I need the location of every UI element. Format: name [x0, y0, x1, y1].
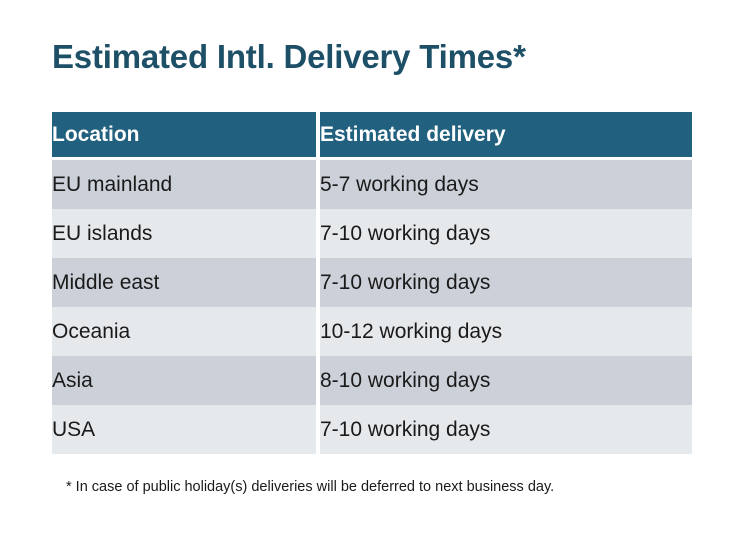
cell-location: Middle east: [52, 258, 316, 307]
table-row: EU mainland 5-7 working days: [52, 160, 692, 209]
cell-location: USA: [52, 405, 316, 454]
cell-estimate: 7-10 working days: [320, 209, 692, 258]
cell-estimate: 7-10 working days: [320, 258, 692, 307]
footnote-text: * In case of public holiday(s) deliverie…: [66, 479, 554, 495]
table-header-row: Location Estimated delivery: [52, 112, 692, 157]
table-row: Oceania 10-12 working days: [52, 307, 692, 356]
table-row: EU islands 7-10 working days: [52, 209, 692, 258]
cell-estimate: 8-10 working days: [320, 356, 692, 405]
page-title: Estimated Intl. Delivery Times*: [52, 38, 526, 76]
cell-location: EU mainland: [52, 160, 316, 209]
cell-location: EU islands: [52, 209, 316, 258]
delivery-times-document: Estimated Intl. Delivery Times* Location…: [0, 0, 745, 536]
table-body: EU mainland 5-7 working days EU islands …: [52, 157, 692, 454]
table-row: Asia 8-10 working days: [52, 356, 692, 405]
table-row: USA 7-10 working days: [52, 405, 692, 454]
cell-estimate: 7-10 working days: [320, 405, 692, 454]
column-header-location: Location: [52, 112, 316, 157]
table-header: Location Estimated delivery: [52, 112, 692, 157]
cell-location: Oceania: [52, 307, 316, 356]
column-header-estimated-delivery: Estimated delivery: [320, 112, 692, 157]
estimated-delivery-table: Location Estimated delivery EU mainland …: [52, 112, 692, 454]
cell-location: Asia: [52, 356, 316, 405]
cell-estimate: 10-12 working days: [320, 307, 692, 356]
cell-estimate: 5-7 working days: [320, 160, 692, 209]
table-row: Middle east 7-10 working days: [52, 258, 692, 307]
